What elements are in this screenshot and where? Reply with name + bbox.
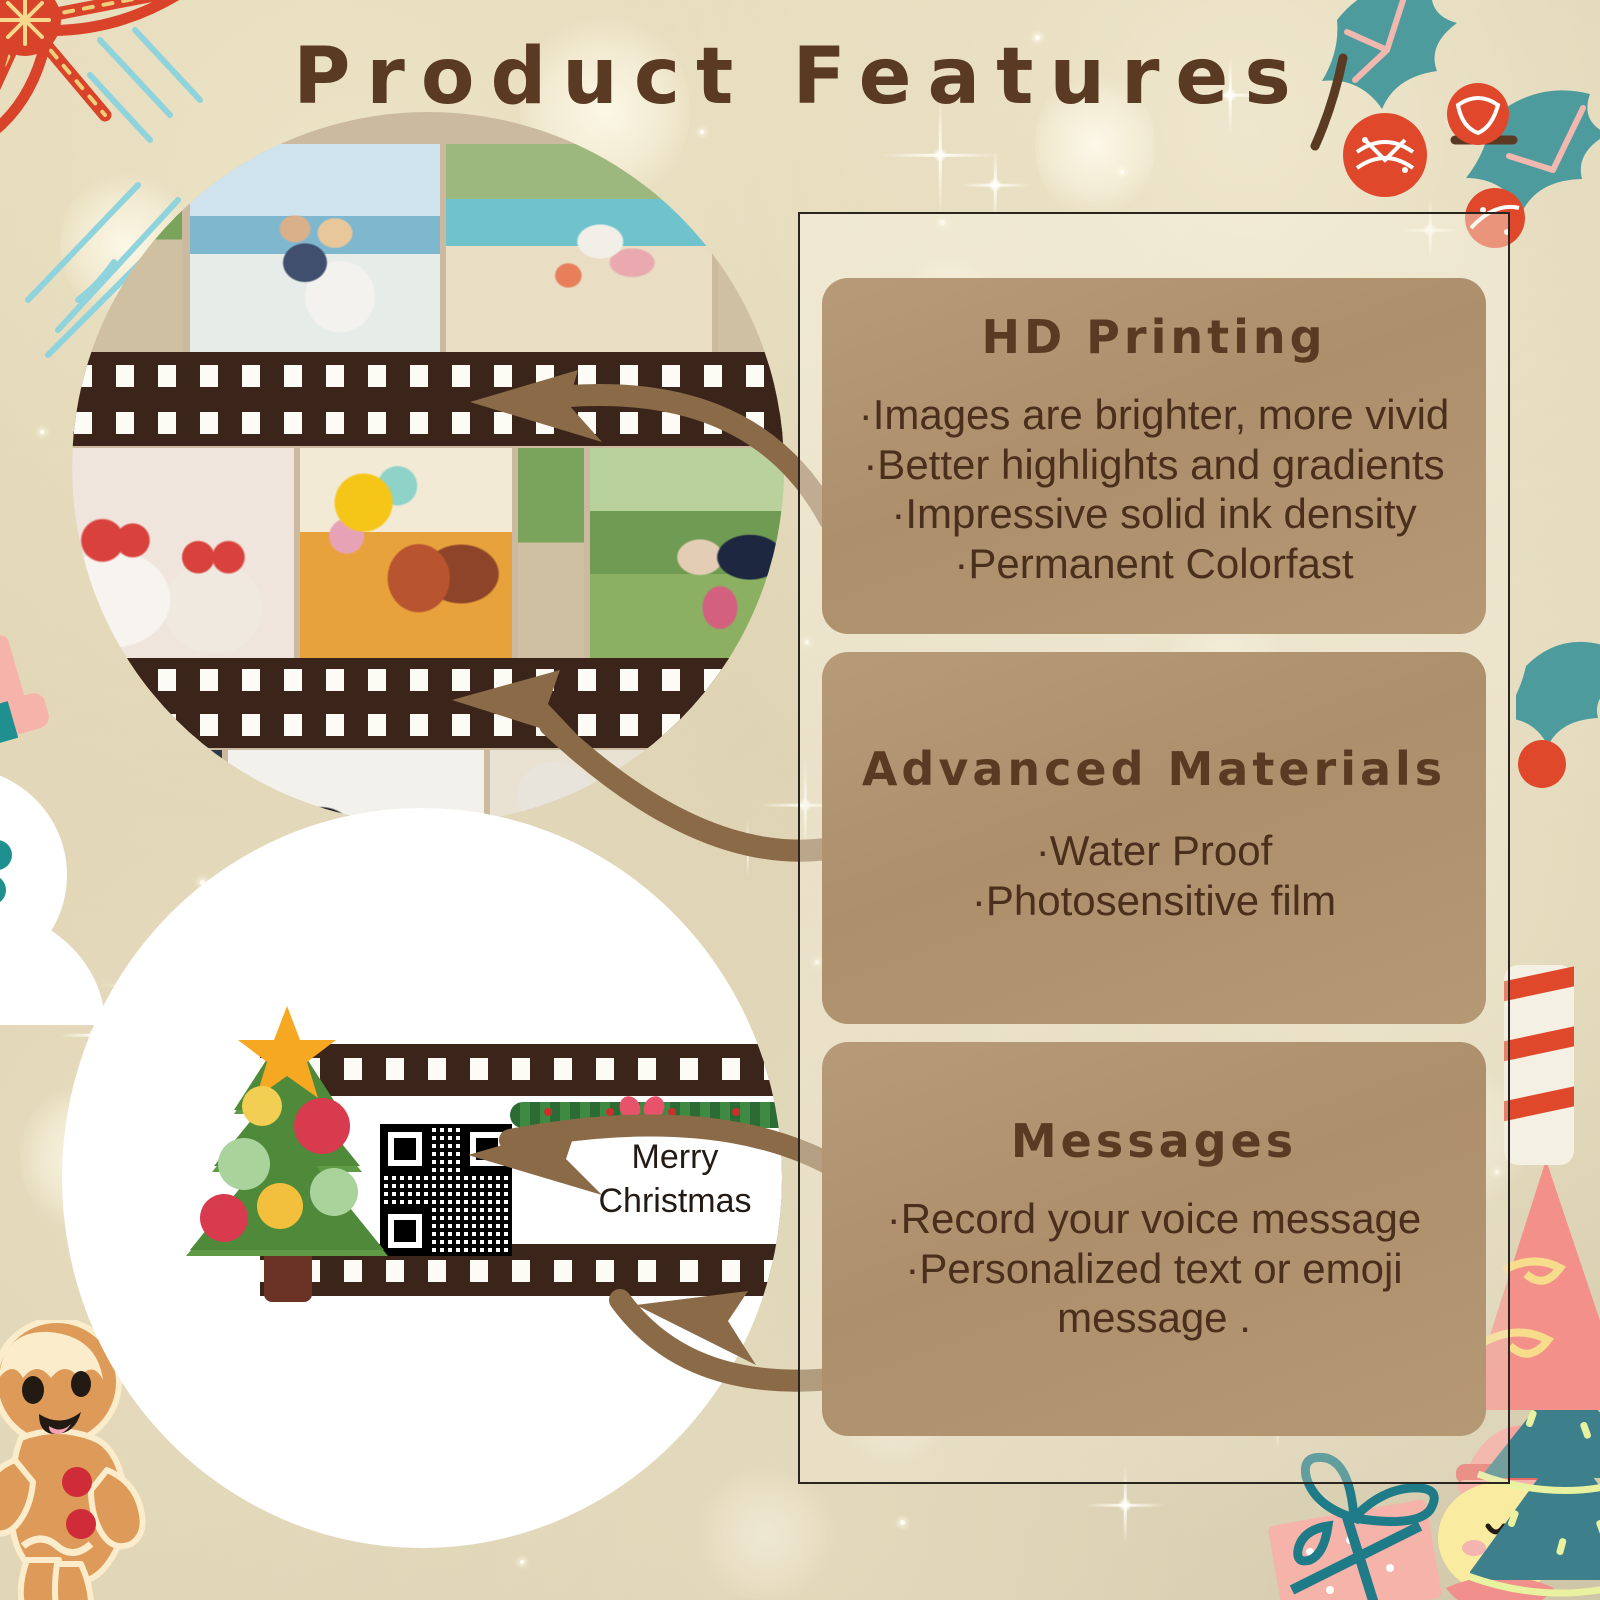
poster-canvas: Merry Christmas bbox=[0, 0, 1600, 1600]
feature-bullet: ·Images are brighter, more vivid bbox=[848, 390, 1460, 440]
photo-collage-circle bbox=[72, 112, 784, 824]
feature-card-messages: Messages ·Record your voice message ·Per… bbox=[822, 1042, 1486, 1436]
feature-bullet: ·Personalized text or emoji bbox=[848, 1244, 1460, 1294]
christmas-greeting: Merry Christmas bbox=[560, 1136, 782, 1223]
collage-photo bbox=[446, 144, 712, 356]
feature-title: HD Printing bbox=[848, 310, 1460, 364]
collage-photo bbox=[718, 144, 784, 356]
filmstrip-perforation bbox=[72, 658, 784, 702]
collage-photo bbox=[72, 750, 222, 824]
collage-photo bbox=[72, 448, 294, 658]
collage-photo bbox=[190, 144, 440, 356]
feature-bullet: ·Record your voice message bbox=[848, 1194, 1460, 1244]
feature-bullet: message . bbox=[848, 1293, 1460, 1343]
feature-bullet: ·Impressive solid ink density bbox=[848, 489, 1460, 539]
filmstrip-perforation bbox=[72, 400, 784, 446]
collage-photo bbox=[746, 750, 784, 824]
feature-bullet: ·Water Proof bbox=[848, 826, 1460, 876]
feature-card-advanced-materials: Advanced Materials ·Water Proof ·Photose… bbox=[822, 652, 1486, 1024]
christmas-card-circle: Merry Christmas bbox=[62, 808, 782, 1548]
collage-photo bbox=[490, 750, 740, 824]
greeting-line-1: Merry bbox=[560, 1136, 782, 1180]
christmas-tree-icon bbox=[172, 1006, 402, 1306]
filmstrip-perforation bbox=[72, 352, 784, 400]
collage-photo bbox=[72, 144, 182, 356]
greeting-line-2: Christmas bbox=[560, 1180, 782, 1224]
page-title: Product Features bbox=[0, 32, 1600, 122]
collage-photo bbox=[518, 448, 584, 658]
filmstrip-perforation bbox=[72, 702, 784, 748]
feature-bullet: ·Better highlights and gradients bbox=[848, 440, 1460, 490]
feature-card-hd-printing: HD Printing ·Images are brighter, more v… bbox=[822, 278, 1486, 634]
feature-bullet: ·Permanent Colorfast bbox=[848, 539, 1460, 589]
feature-bullet: ·Photosensitive film bbox=[848, 876, 1460, 926]
feature-title: Advanced Materials bbox=[848, 742, 1460, 796]
collage-photo bbox=[590, 448, 784, 658]
collage-photo bbox=[300, 448, 512, 658]
feature-title: Messages bbox=[848, 1114, 1460, 1168]
red-bow-icon bbox=[620, 1096, 664, 1132]
